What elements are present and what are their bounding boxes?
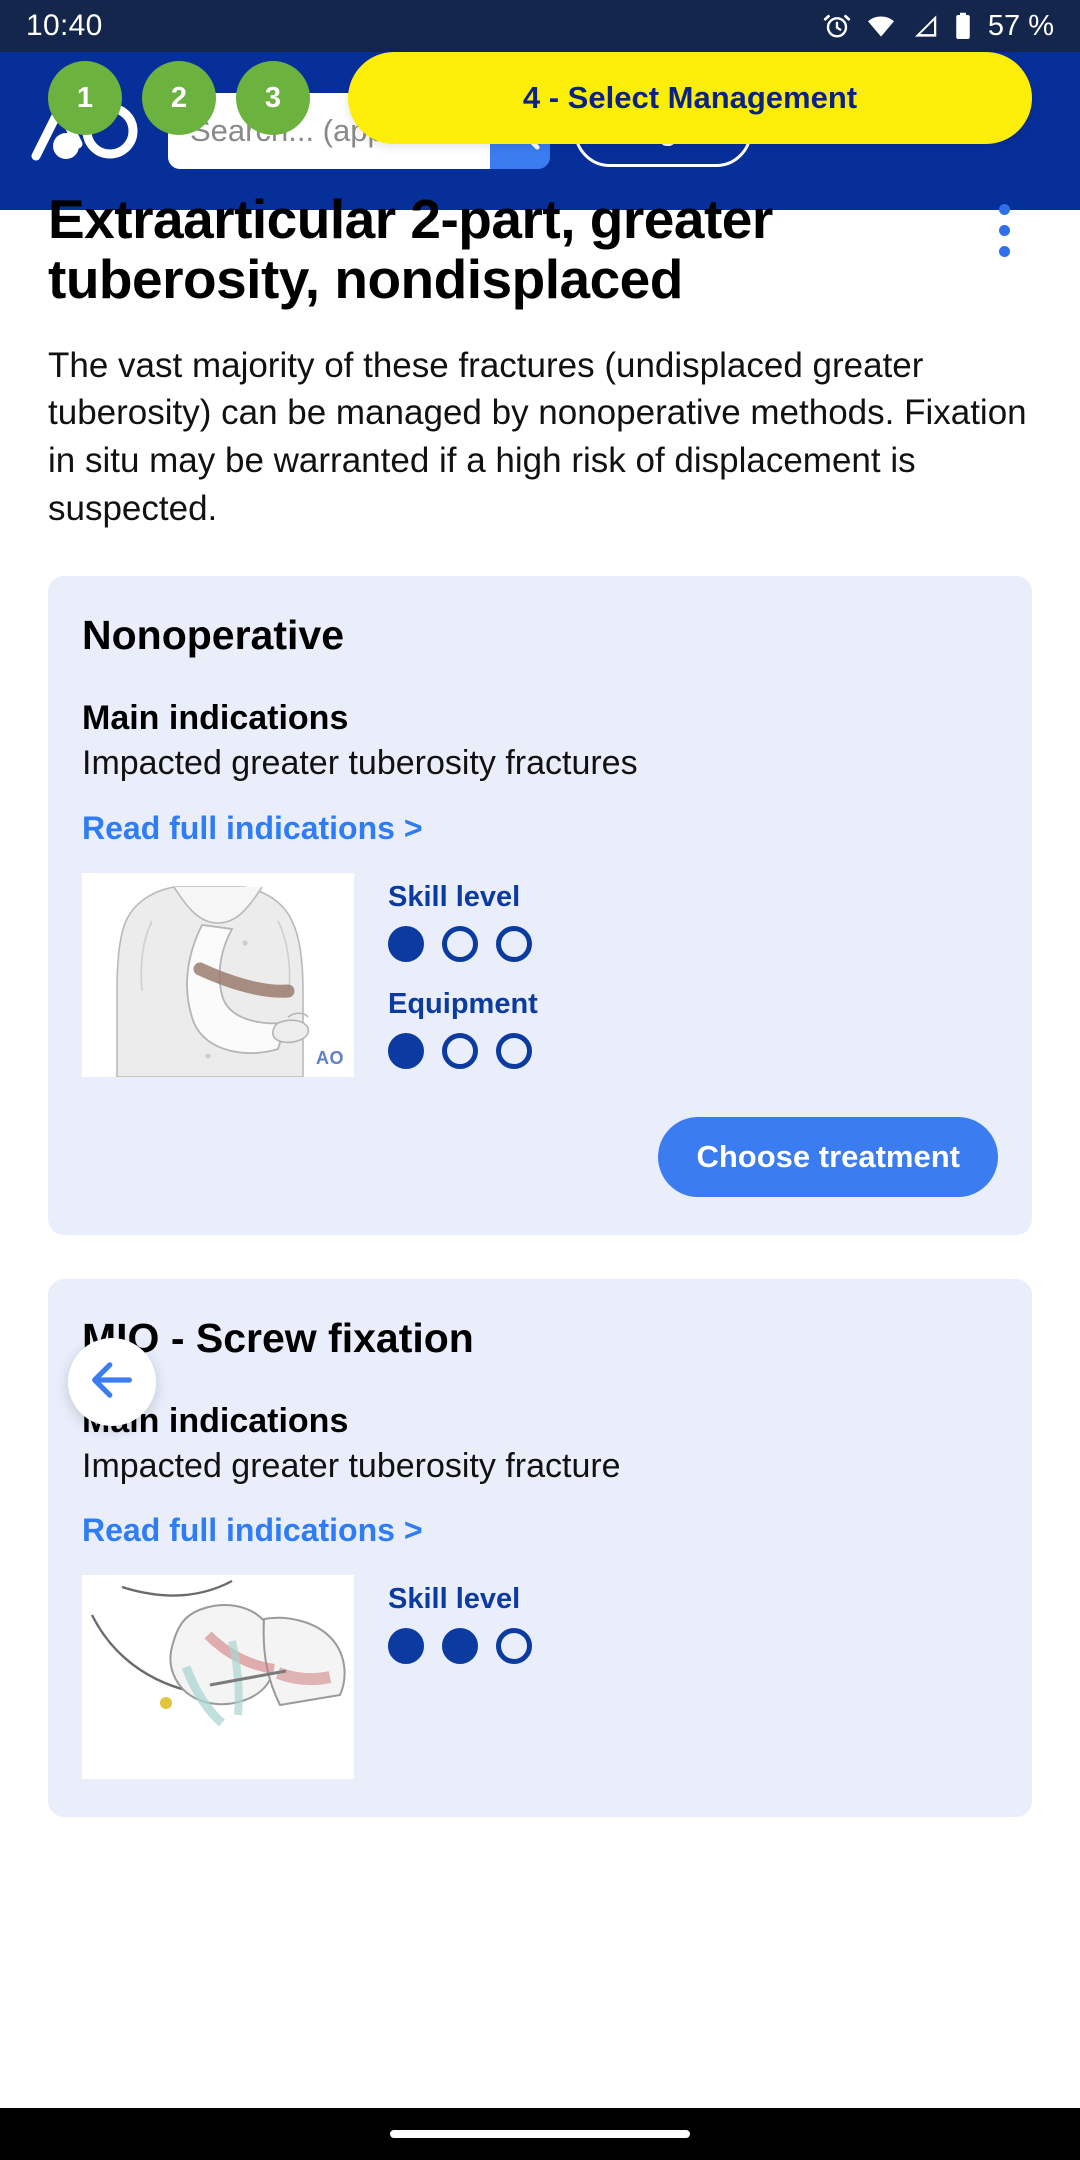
back-button[interactable] [68, 1338, 156, 1426]
app-screen: 10:40 57 % [0, 0, 1080, 2160]
sling-immobilization-illustration[interactable]: AO [82, 873, 354, 1077]
equipment-rating [388, 1033, 538, 1069]
treatment-title: MIO - Screw fixation [82, 1315, 998, 1362]
skill-level-label: Skill level [388, 1583, 532, 1616]
treatment-meta: Skill level Equipment [388, 873, 538, 1095]
rating-dot-empty [442, 926, 478, 962]
rating-dot-empty [496, 1033, 532, 1069]
rating-dot-filled [442, 1628, 478, 1664]
gesture-handle[interactable] [390, 2130, 690, 2138]
read-full-indications-link[interactable]: Read full indications > [82, 1512, 423, 1549]
kebab-menu-icon[interactable] [976, 190, 1032, 257]
kebab-dot [999, 204, 1010, 215]
treatment-meta: Skill level [388, 1575, 532, 1690]
title-row: Extraarticular 2-part, greater tuberosit… [48, 190, 1032, 310]
rating-dot-empty [442, 1033, 478, 1069]
kebab-dot [999, 246, 1010, 257]
indications-text: Impacted greater tuberosity fracture [82, 1445, 998, 1489]
back-arrow-icon [86, 1354, 138, 1411]
skill-level-rating [388, 1628, 532, 1664]
ao-watermark: AO [316, 1048, 344, 1069]
kebab-dot [999, 225, 1010, 236]
page-description: The vast majority of these fractures (un… [48, 342, 1032, 532]
wizard-steps: 1 2 3 4 - Select Management [48, 0, 1032, 144]
skill-level-label: Skill level [388, 881, 538, 914]
page-title: Extraarticular 2-part, greater tuberosit… [48, 190, 976, 310]
rating-dot-filled [388, 926, 424, 962]
equipment-label: Equipment [388, 988, 538, 1021]
choose-treatment-button[interactable]: Choose treatment [658, 1117, 998, 1197]
treatment-media-row: Skill level [82, 1575, 998, 1779]
rating-dot-filled [388, 1628, 424, 1664]
skill-level-rating [388, 926, 538, 962]
rating-dot-empty [496, 926, 532, 962]
step-1-button[interactable]: 1 [48, 61, 122, 135]
step-3-button[interactable]: 3 [236, 61, 310, 135]
step-2-button[interactable]: 2 [142, 61, 216, 135]
read-full-indications-link[interactable]: Read full indications > [82, 810, 423, 847]
rating-dot-empty [496, 1628, 532, 1664]
treatment-media-row: AO Skill level Equipment [82, 873, 998, 1095]
screw-fixation-illustration[interactable] [82, 1575, 354, 1779]
indications-text: Impacted greater tuberosity fractures [82, 742, 998, 786]
treatment-card-nonoperative[interactable]: Nonoperative Main indications Impacted g… [48, 576, 1032, 1235]
treatment-card-mio-screw-fixation[interactable]: MIO - Screw fixation Main indications Im… [48, 1279, 1032, 1818]
indications-heading: Main indications [82, 1402, 998, 1441]
step-4-current[interactable]: 4 - Select Management [348, 52, 1032, 144]
rating-dot-filled [388, 1033, 424, 1069]
treatment-action-row: Choose treatment [82, 1117, 998, 1197]
indications-heading: Main indications [82, 699, 998, 738]
treatment-title: Nonoperative [82, 612, 998, 659]
page-content: 1 2 3 4 - Select Management Extraarticul… [0, 0, 1080, 1817]
android-nav-bar [0, 2108, 1080, 2160]
